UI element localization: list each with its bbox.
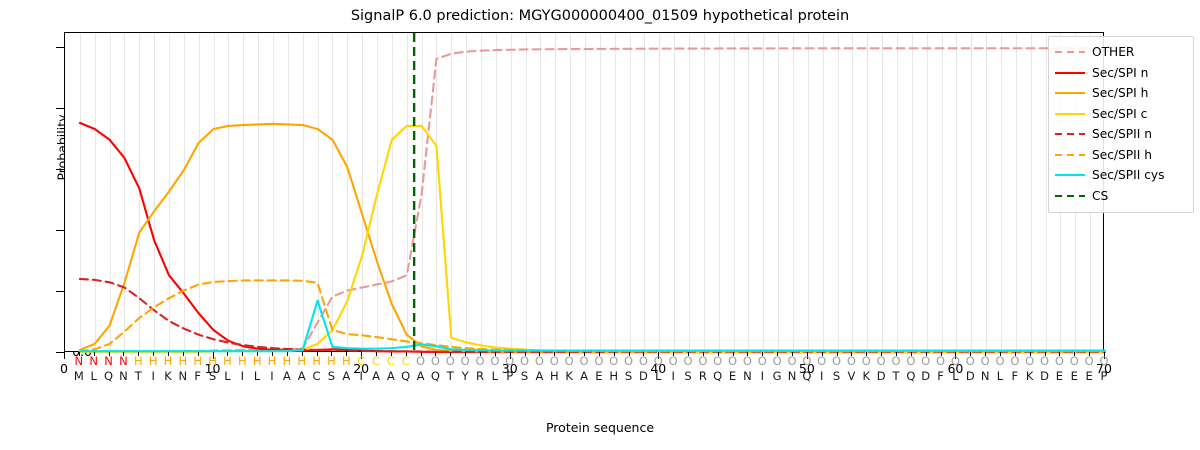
legend-item[interactable]: Sec/SPII h (1055, 145, 1187, 166)
legend-swatch-icon (1055, 88, 1085, 98)
region-annotation-row: NNNNHHHHHHHHHHHHHHHCCCCOOOOOOOOOOOOOOOOO… (64, 354, 1104, 368)
legend-swatch-icon (1055, 68, 1085, 78)
legend-swatch-icon (1055, 170, 1085, 180)
legend-label: Sec/SPII h (1092, 148, 1152, 162)
x-axis-title: Protein sequence (0, 420, 1200, 435)
series-line (80, 123, 1105, 352)
legend-label: CS (1092, 189, 1108, 203)
legend-item[interactable]: Sec/SPII n (1055, 124, 1187, 145)
sequence-row: MLQNTIKNFSLILIAACSAIAAQAQTYRLPSAHKAEHSDL… (64, 369, 1104, 383)
legend-swatch-icon (1055, 47, 1085, 57)
legend: OTHERSec/SPI nSec/SPI hSec/SPI cSec/SPII… (1048, 36, 1194, 213)
legend-label: Sec/SPI c (1092, 107, 1147, 121)
legend-label: Sec/SPII cys (1092, 168, 1164, 182)
plot-area (64, 32, 1104, 352)
legend-item[interactable]: Sec/SPII cys (1055, 165, 1187, 186)
series-line (80, 124, 1105, 352)
legend-item[interactable]: OTHER (1055, 42, 1187, 63)
legend-label: Sec/SPI n (1092, 66, 1148, 80)
region-label: O (1095, 354, 1113, 368)
legend-swatch-icon (1055, 150, 1085, 160)
legend-item[interactable]: CS (1055, 186, 1187, 207)
signalp-plot-figure: SignalP 6.0 prediction: MGYG000000400_01… (0, 0, 1200, 450)
legend-label: Sec/SPI h (1092, 86, 1148, 100)
chart-title: SignalP 6.0 prediction: MGYG000000400_01… (0, 8, 1200, 24)
legend-swatch-icon (1055, 129, 1085, 139)
series-line (80, 279, 1105, 352)
legend-label: OTHER (1092, 45, 1134, 59)
legend-swatch-icon (1055, 191, 1085, 201)
legend-label: Sec/SPII n (1092, 127, 1152, 141)
series-curves (65, 33, 1105, 353)
legend-swatch-icon (1055, 109, 1085, 119)
residue-label: P (1095, 369, 1113, 383)
legend-item[interactable]: Sec/SPI c (1055, 104, 1187, 125)
legend-item[interactable]: Sec/SPI n (1055, 63, 1187, 84)
series-line (80, 280, 1105, 351)
series-line (80, 126, 1105, 352)
legend-item[interactable]: Sec/SPI h (1055, 83, 1187, 104)
series-line (80, 48, 1105, 351)
